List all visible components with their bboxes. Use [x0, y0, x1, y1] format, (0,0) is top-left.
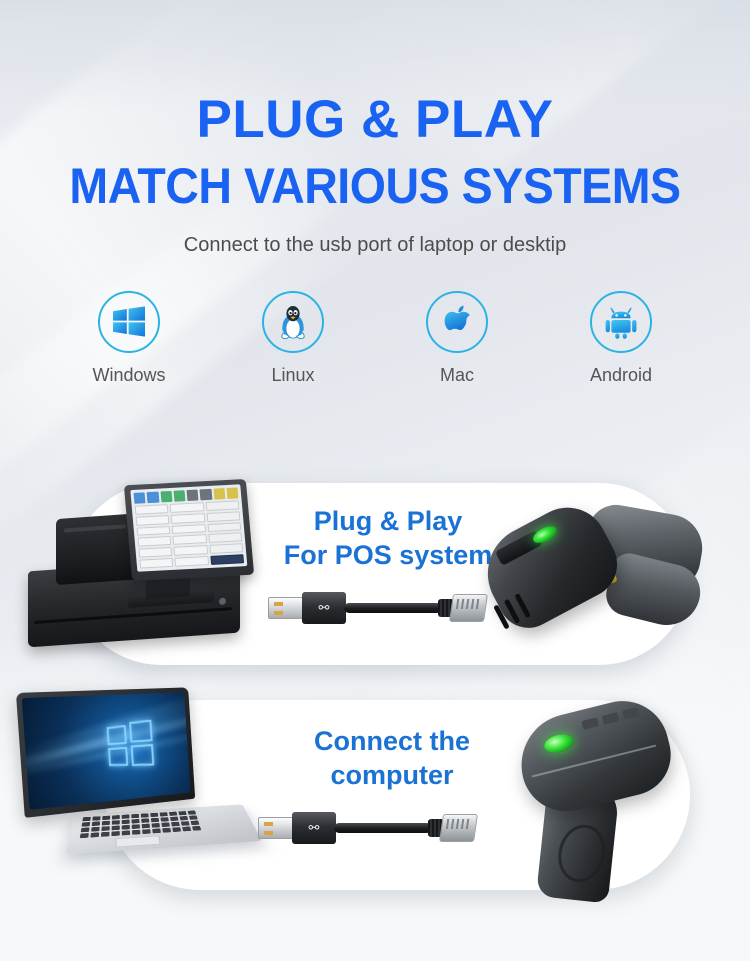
pos-screen-item: [172, 524, 206, 535]
usb-trident-icon: ⚯: [314, 602, 334, 614]
os-icon-circle: [590, 291, 652, 353]
laptop-screen: [22, 692, 191, 810]
os-label: Android: [577, 365, 665, 386]
os-label: Mac: [413, 365, 501, 386]
os-label: Windows: [85, 365, 173, 386]
card-pos-caption-line1: Plug & Play: [268, 505, 508, 539]
rj45-pin: [456, 599, 459, 609]
rj45-connector: [438, 594, 486, 622]
pos-screen-key: [187, 490, 199, 502]
laptop-touchpad: [115, 836, 160, 848]
usb-connector-shroud: [258, 817, 294, 839]
os-icon-circle: [262, 291, 324, 353]
headline-primary: PLUG & PLAY: [0, 92, 750, 148]
rj45-pin: [456, 819, 459, 829]
pos-screen-column: [135, 504, 174, 569]
pos-screen-item: [137, 526, 171, 537]
pos-screen-item: [205, 500, 239, 511]
windows-logo-icon: [112, 306, 146, 338]
rj45-pin: [466, 599, 469, 609]
pos-screen-item: [207, 522, 241, 533]
pos-screen-item: [208, 533, 242, 544]
card-pos-caption-line2: For POS system: [268, 539, 508, 573]
card-computer-caption-line1: Connect the: [292, 725, 492, 759]
os-icon-circle: [98, 291, 160, 353]
rj45-connector: [428, 814, 476, 842]
rj45-shell: [439, 814, 478, 842]
drawer-lock: [219, 598, 226, 605]
pos-screen-key: [147, 492, 159, 504]
barcode-scanner-computer-image: [500, 700, 715, 900]
rj45-pin: [466, 819, 469, 829]
drawer-seam: [34, 607, 232, 624]
rj45-pin: [476, 599, 479, 609]
pos-screen-key: [160, 491, 172, 503]
rj45-pin: [461, 819, 464, 829]
os-icon-circle: [426, 291, 488, 353]
card-computer-caption-line2: computer: [292, 759, 492, 793]
rj45-pin: [446, 819, 449, 829]
pos-screen-column: [205, 500, 244, 565]
rj45-pin: [471, 599, 474, 609]
barcode-scanner-pos-image: [482, 488, 697, 658]
usb-rj45-cable-pos: ⚯: [268, 588, 486, 628]
pos-screen-confirm: [210, 554, 244, 565]
pos-screen-column: [170, 502, 209, 567]
pos-screen-item: [174, 545, 208, 556]
pos-screen-item: [206, 511, 240, 522]
pos-screen-item: [139, 558, 173, 569]
pos-screen-item: [175, 556, 209, 567]
scanner-head: [511, 691, 680, 820]
pos-screen-item: [173, 535, 207, 546]
pos-terminal-image: [28, 480, 278, 655]
pos-screen-item: [209, 544, 243, 555]
pos-screen-key: [200, 489, 212, 501]
cable-wire: [334, 823, 432, 833]
pos-screen-key: [173, 490, 185, 502]
laptop-keyboard: [80, 810, 201, 838]
pos-screen-key: [226, 487, 238, 499]
headline-secondary: MATCH VARIOUS SYSTEMS: [26, 160, 724, 213]
os-compatibility-row: Windows Linux: [0, 291, 750, 386]
cable-wire: [344, 603, 442, 613]
android-robot-icon: [604, 305, 638, 339]
card-pos-caption: Plug & Play For POS system: [268, 505, 508, 573]
os-item-mac: Mac: [413, 291, 501, 386]
pos-screen-item: [138, 536, 172, 547]
scanner-grip-contour: [552, 820, 611, 887]
usb-contact: [264, 822, 273, 826]
card-computer-caption: Connect the computer: [292, 725, 492, 793]
os-item-android: Android: [577, 291, 665, 386]
usb-connector-body: ⚯: [302, 592, 346, 624]
laptop-lid: [16, 687, 195, 818]
usb-contact: [264, 831, 273, 835]
printer-paper-slot: [64, 524, 126, 532]
rj45-pin: [451, 819, 454, 829]
pos-screen-item: [171, 513, 205, 524]
pos-screen-item: [136, 515, 170, 526]
pos-monitor: [124, 479, 254, 581]
os-label: Linux: [249, 365, 337, 386]
pos-screen-item: [135, 504, 169, 515]
pos-screen-key: [134, 492, 146, 504]
os-item-linux: Linux: [249, 291, 337, 386]
rj45-pin: [461, 599, 464, 609]
usb-trident-icon: ⚯: [304, 822, 324, 834]
usb-connector-shroud: [268, 597, 304, 619]
apple-logo-icon: [442, 304, 472, 340]
pos-screen-key: [213, 488, 225, 500]
header-section: PLUG & PLAY MATCH VARIOUS SYSTEMS Connec…: [0, 0, 750, 257]
linux-penguin-icon: [278, 304, 308, 340]
laptop-image: [14, 690, 254, 880]
pos-screen-item: [170, 502, 204, 513]
pos-screen-item: [138, 547, 172, 558]
os-item-windows: Windows: [85, 291, 173, 386]
pos-screen: [130, 484, 247, 571]
usb-rj45-cable-computer: ⚯: [258, 808, 476, 848]
header-subtitle: Connect to the usb port of laptop or des…: [0, 234, 750, 257]
pos-screen-grid: [135, 500, 244, 568]
windows-wallpaper-logo-icon: [106, 719, 156, 768]
usb-contact: [274, 602, 283, 606]
laptop-base: [66, 804, 262, 854]
usb-contact: [274, 611, 283, 615]
usb-connector-body: ⚯: [292, 812, 336, 844]
